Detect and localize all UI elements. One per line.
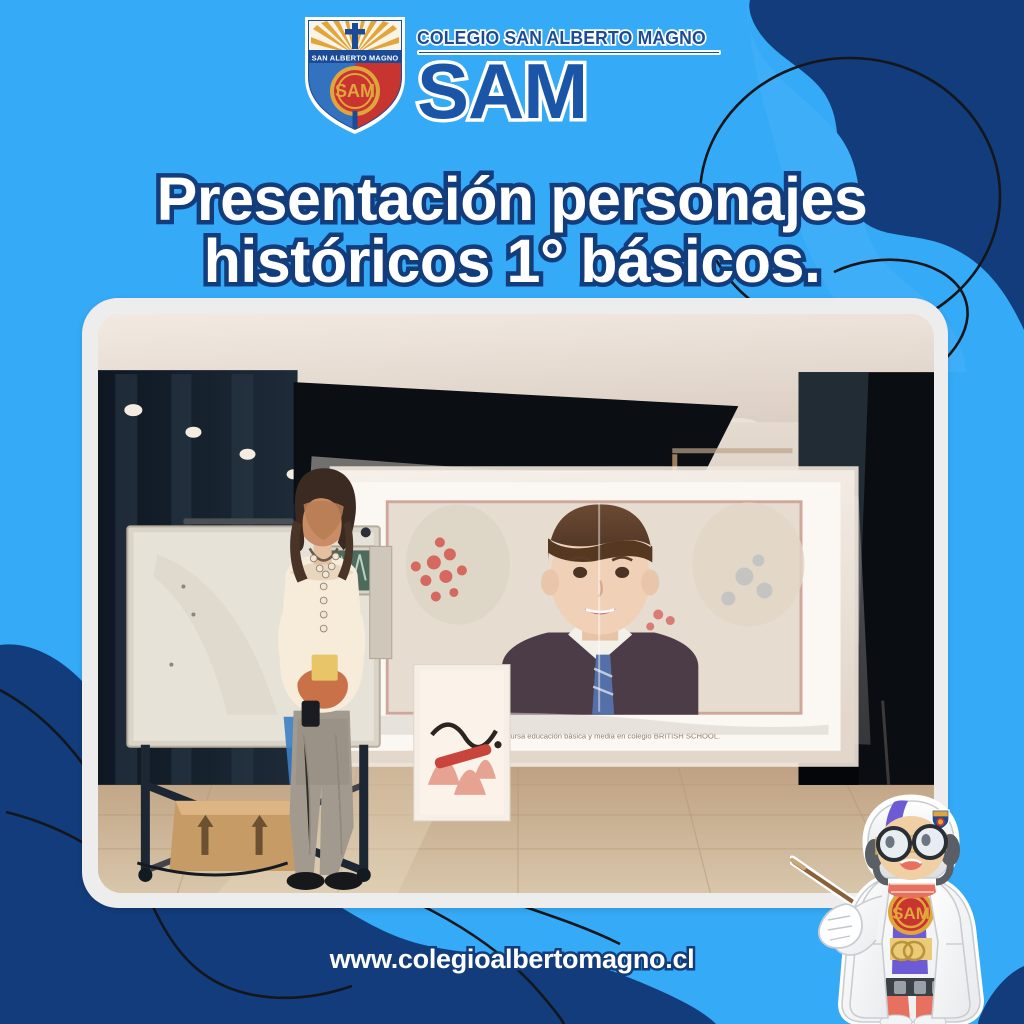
page-title: Presentación personajes históricos 1° bá… xyxy=(0,168,1024,292)
brand-logo[interactable]: SAM SAN ALBERTO MAGNO COLEGIO SAN ALBERT… xyxy=(0,8,1024,138)
brand-subtitle: COLEGIO SAN ALBERTO MAGNO xyxy=(417,27,706,49)
sam-scientist-mascot: SAM xyxy=(790,792,1020,1024)
presenter-person xyxy=(278,468,365,890)
mascot-glove xyxy=(819,904,862,948)
shield-monogram-text: SAM xyxy=(335,81,375,101)
poster-canvas: SAM SAN ALBERTO MAGNO COLEGIO SAN ALBERT… xyxy=(0,0,1024,1024)
brand-acronym: SAM xyxy=(417,57,587,126)
sam-shield-logo: SAM SAN ALBERTO MAGNO xyxy=(303,11,407,135)
shield-banner-text: SAN ALBERTO MAGNO xyxy=(312,53,399,62)
brand-wordmark: COLEGIO SAN ALBERTO MAGNO SAM xyxy=(417,27,721,126)
wall-poster xyxy=(414,665,510,821)
mascot-badge-text: SAM xyxy=(892,904,930,923)
cardboard-box xyxy=(169,801,301,871)
mascot-body: SAM xyxy=(819,798,980,1024)
projection-screen: 1991-2009 cursa educación básica y media… xyxy=(330,466,859,767)
